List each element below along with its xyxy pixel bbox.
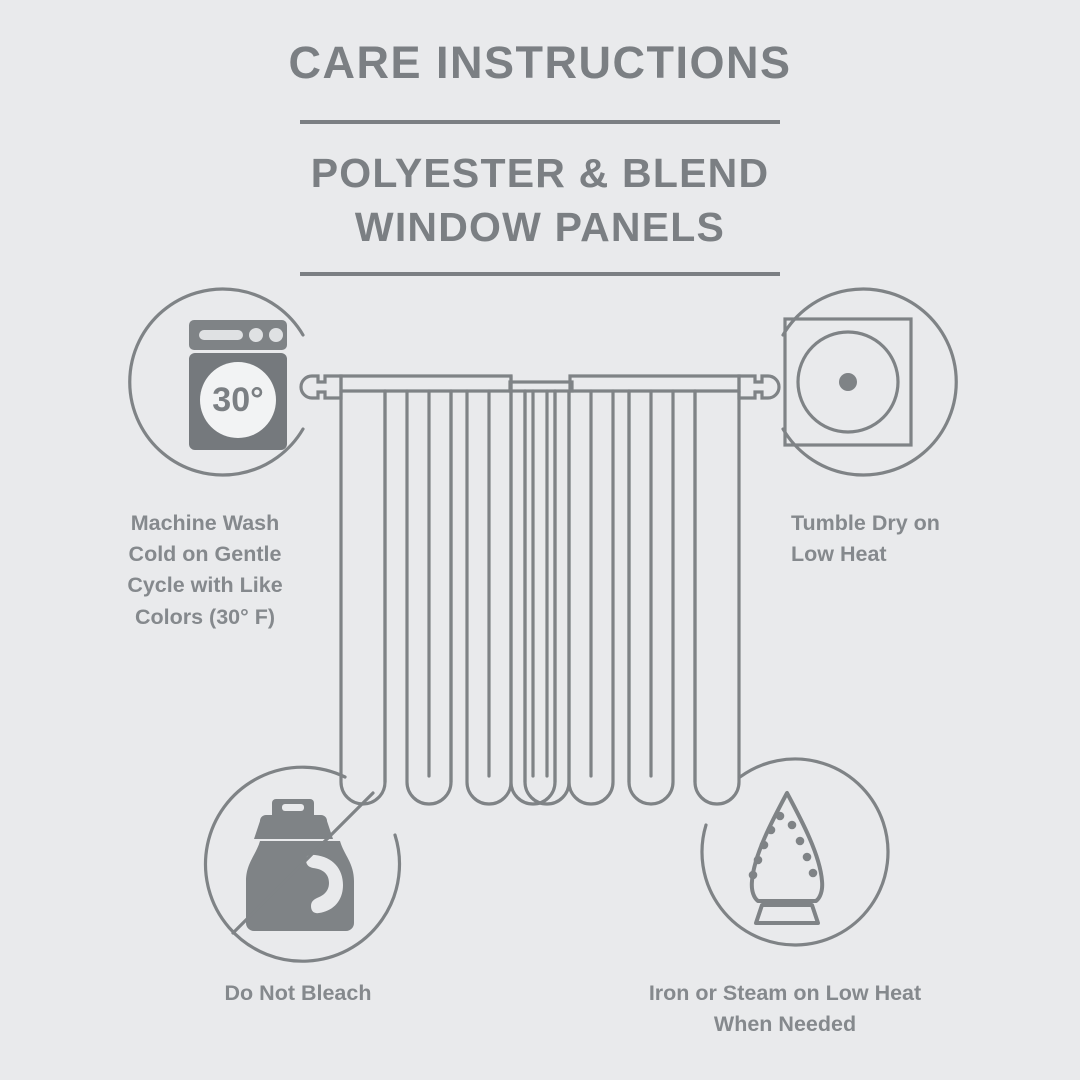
iron-steam-icon <box>692 763 882 953</box>
divider-bottom <box>300 272 780 276</box>
caption-machine-wash: Machine Wash Cold on Gentle Cycle with L… <box>60 508 350 633</box>
no-bleach-icon <box>203 763 393 953</box>
wash-temperature-label: 30° <box>212 381 263 419</box>
curtain-rod-bar <box>510 382 572 391</box>
symbol-ring <box>702 759 888 945</box>
iron-base <box>756 905 818 923</box>
subtitle-line-2: WINDOW PANELS <box>0 200 1080 254</box>
iron-steam-holes <box>749 812 818 880</box>
dryer-low-heat-dot <box>839 373 857 391</box>
curtain-panel-left <box>341 376 555 804</box>
caption-iron: Iron or Steam on Low Heat When Needed <box>585 978 985 1040</box>
care-instructions-infographic: CARE INSTRUCTIONS POLYESTER & BLEND WIND… <box>0 0 1080 1080</box>
symbol-ring <box>783 289 956 475</box>
machine-body: 30° <box>189 320 287 450</box>
subtitle-line-1: POLYESTER & BLEND <box>0 146 1080 200</box>
washing-machine-icon: 30° <box>143 287 333 477</box>
tumble-dry-low-icon <box>753 287 943 477</box>
caption-do-not-bleach: Do Not Bleach <box>148 978 448 1009</box>
page-title: CARE INSTRUCTIONS <box>0 40 1080 85</box>
divider-top <box>300 120 780 124</box>
page-subtitle: POLYESTER & BLEND WINDOW PANELS <box>0 146 1080 254</box>
caption-tumble-dry: Tumble Dry on Low Heat <box>791 508 1080 570</box>
curtain-panel-right <box>525 376 739 804</box>
